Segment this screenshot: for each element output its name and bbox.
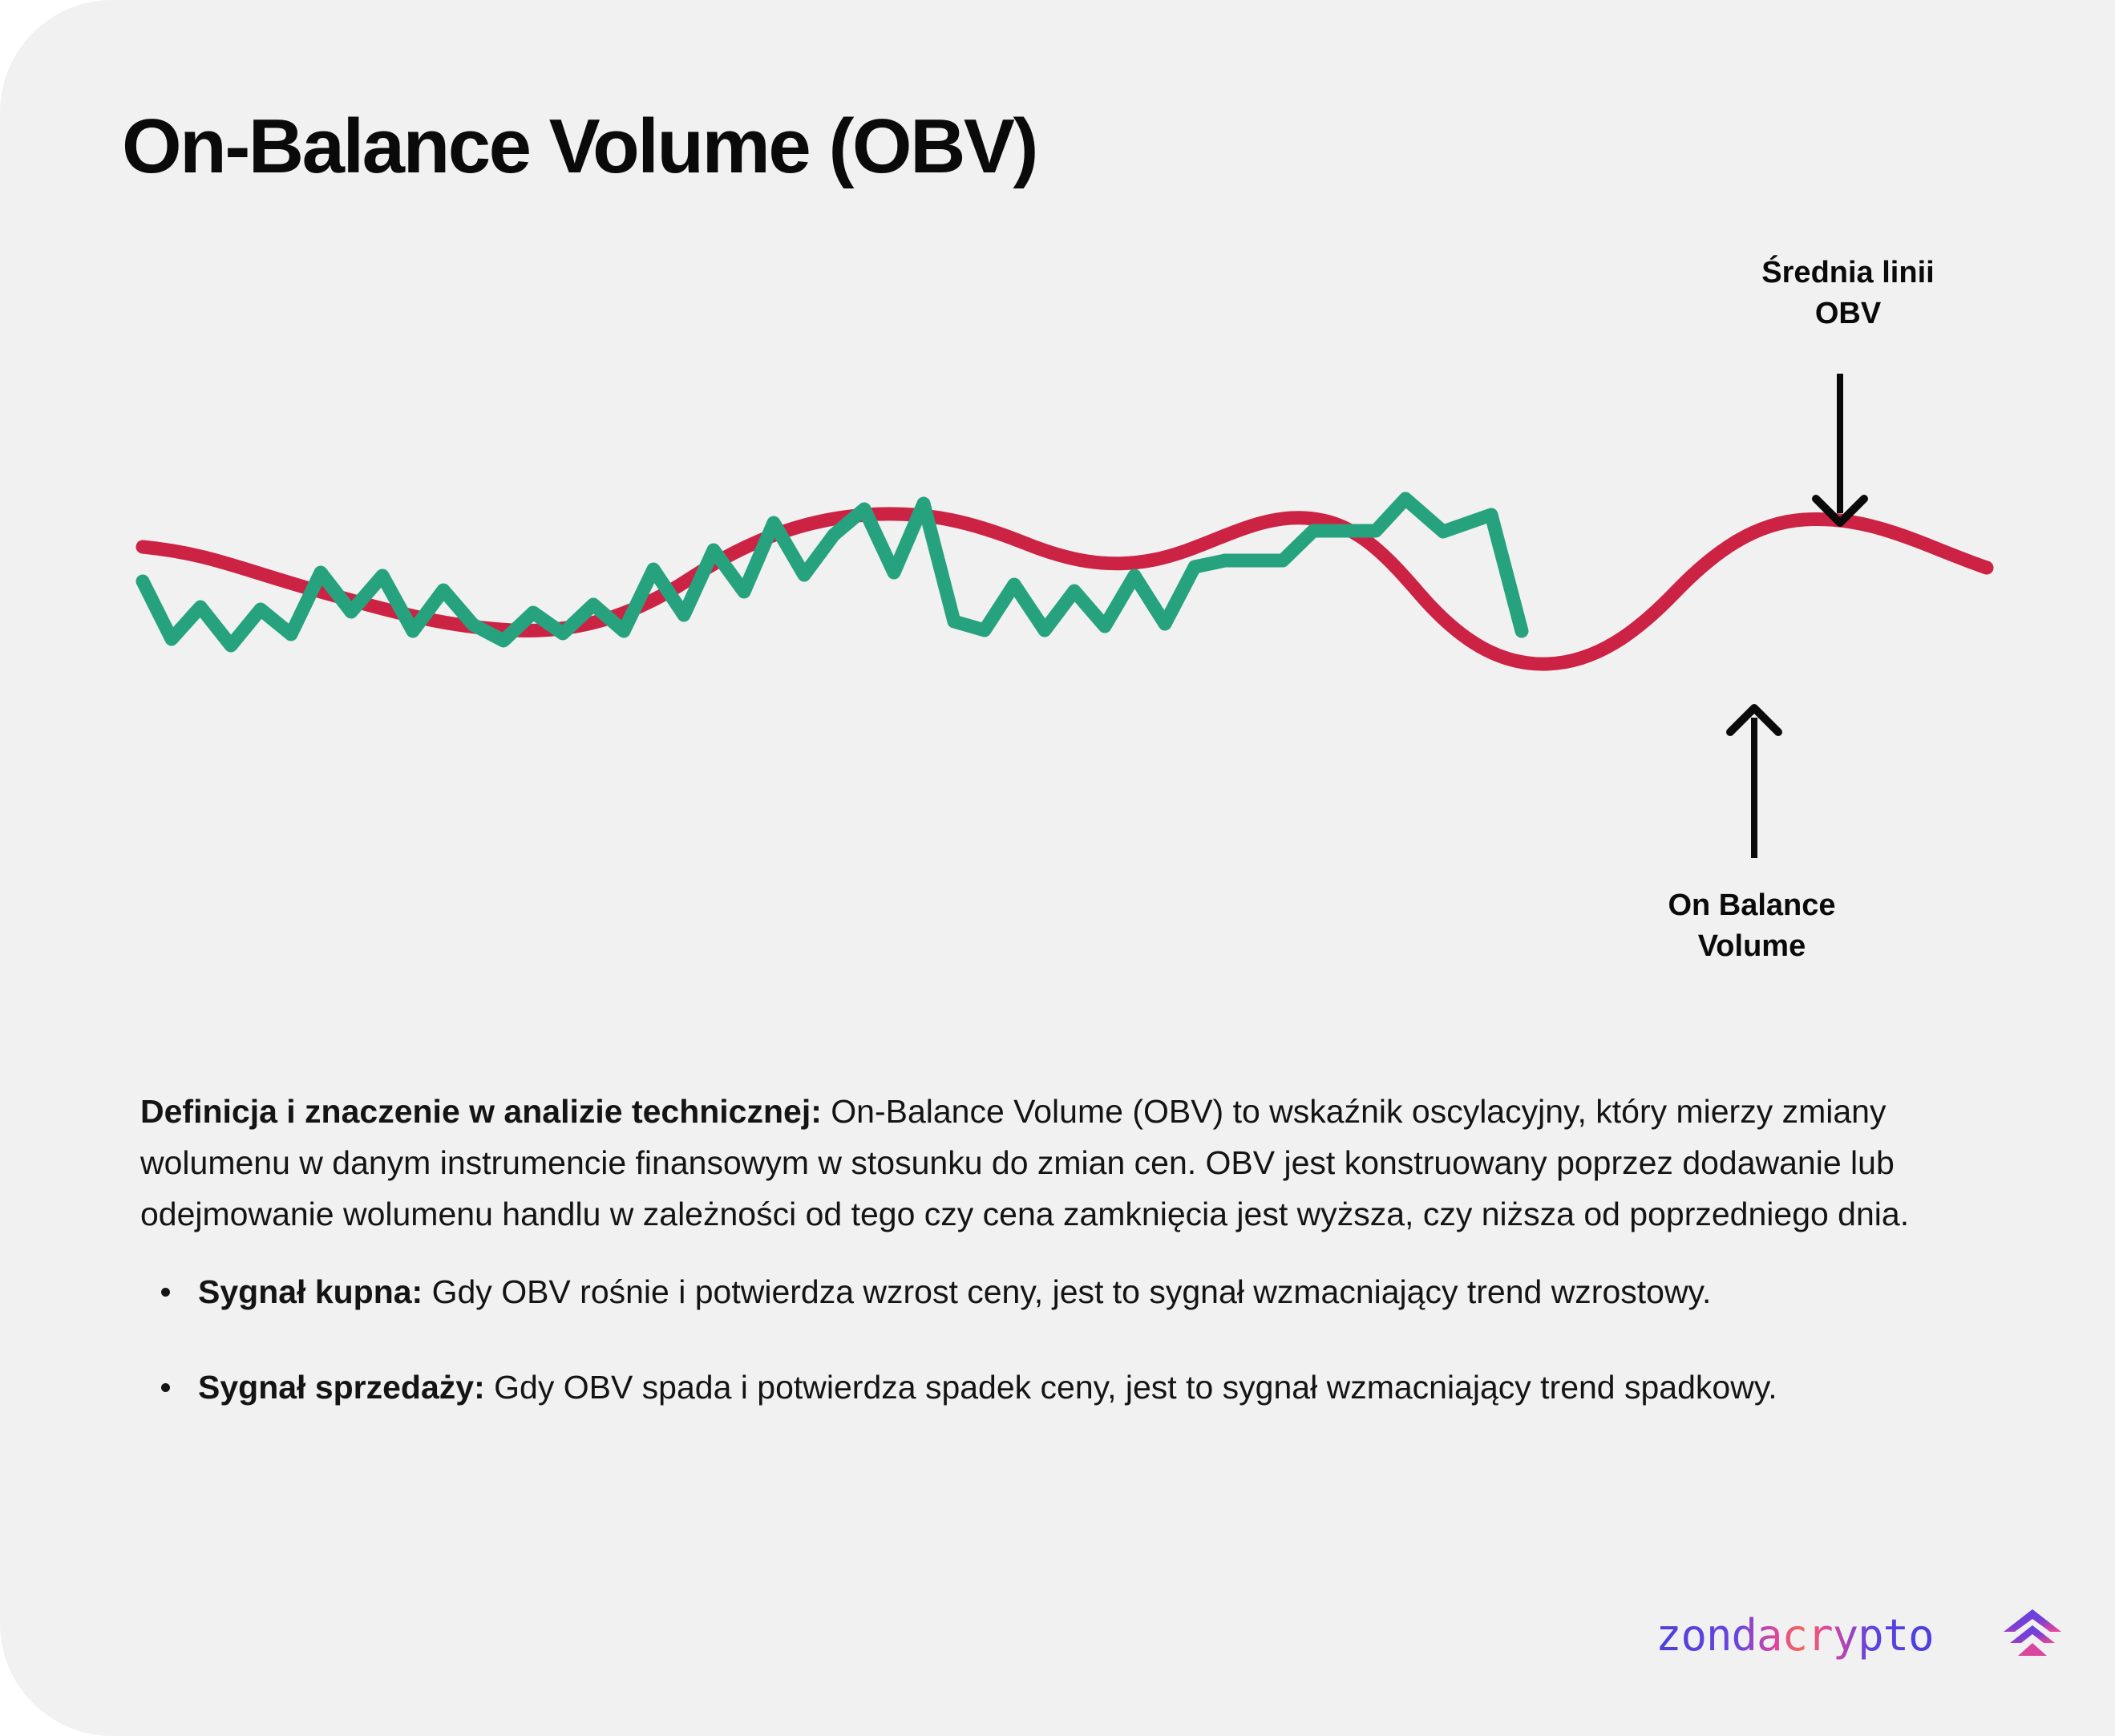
zondacrypto-logo[interactable]: zondacrypto: [1656, 1608, 2063, 1665]
definition-paragraph: Definicja i znaczenie w analizie technic…: [140, 1087, 1984, 1240]
average-line-arrow-icon: [1816, 374, 1864, 523]
bullet-text: Gdy OBV spada i potwierdza spadek ceny, …: [485, 1369, 1777, 1406]
bullet-label: Sygnał sprzedaży:: [198, 1369, 485, 1406]
bullet-dot-icon: [161, 1288, 170, 1297]
annotation-obv-line: On Balance Volume: [1620, 885, 1884, 966]
definition-label: Definicja i znaczenie w analizie technic…: [140, 1093, 822, 1130]
signal-list: Sygnał kupna: Gdy OBV rośnie i potwierdz…: [140, 1268, 1984, 1413]
bullet-dot-icon: [161, 1383, 170, 1392]
page-title: On-Balance Volume (OBV): [122, 104, 1037, 189]
average-line-path: [143, 514, 1987, 664]
list-item: Sygnał kupna: Gdy OBV rośnie i potwierdz…: [140, 1268, 1984, 1317]
stacked-chevron-icon: [2002, 1608, 2063, 1665]
obv-line-arrow-icon: [1730, 708, 1778, 858]
zondacrypto-wordmark: zondacrypto: [1656, 1609, 1992, 1665]
list-item: Sygnał sprzedaży: Gdy OBV spada i potwie…: [140, 1363, 1984, 1413]
bullet-text: Gdy OBV rośnie i potwierdza wzrost ceny,…: [423, 1273, 1711, 1310]
info-card: On-Balance Volume (OBV) Średnia linii OB…: [0, 0, 2115, 1736]
bullet-label: Sygnał kupna:: [198, 1273, 423, 1310]
annotation-average-line: Średnia linii OBV: [1716, 253, 1980, 334]
svg-text:zondacrypto: zondacrypto: [1656, 1610, 1934, 1661]
description-block: Definicja i znaczenie w analizie technic…: [140, 1087, 1984, 1459]
